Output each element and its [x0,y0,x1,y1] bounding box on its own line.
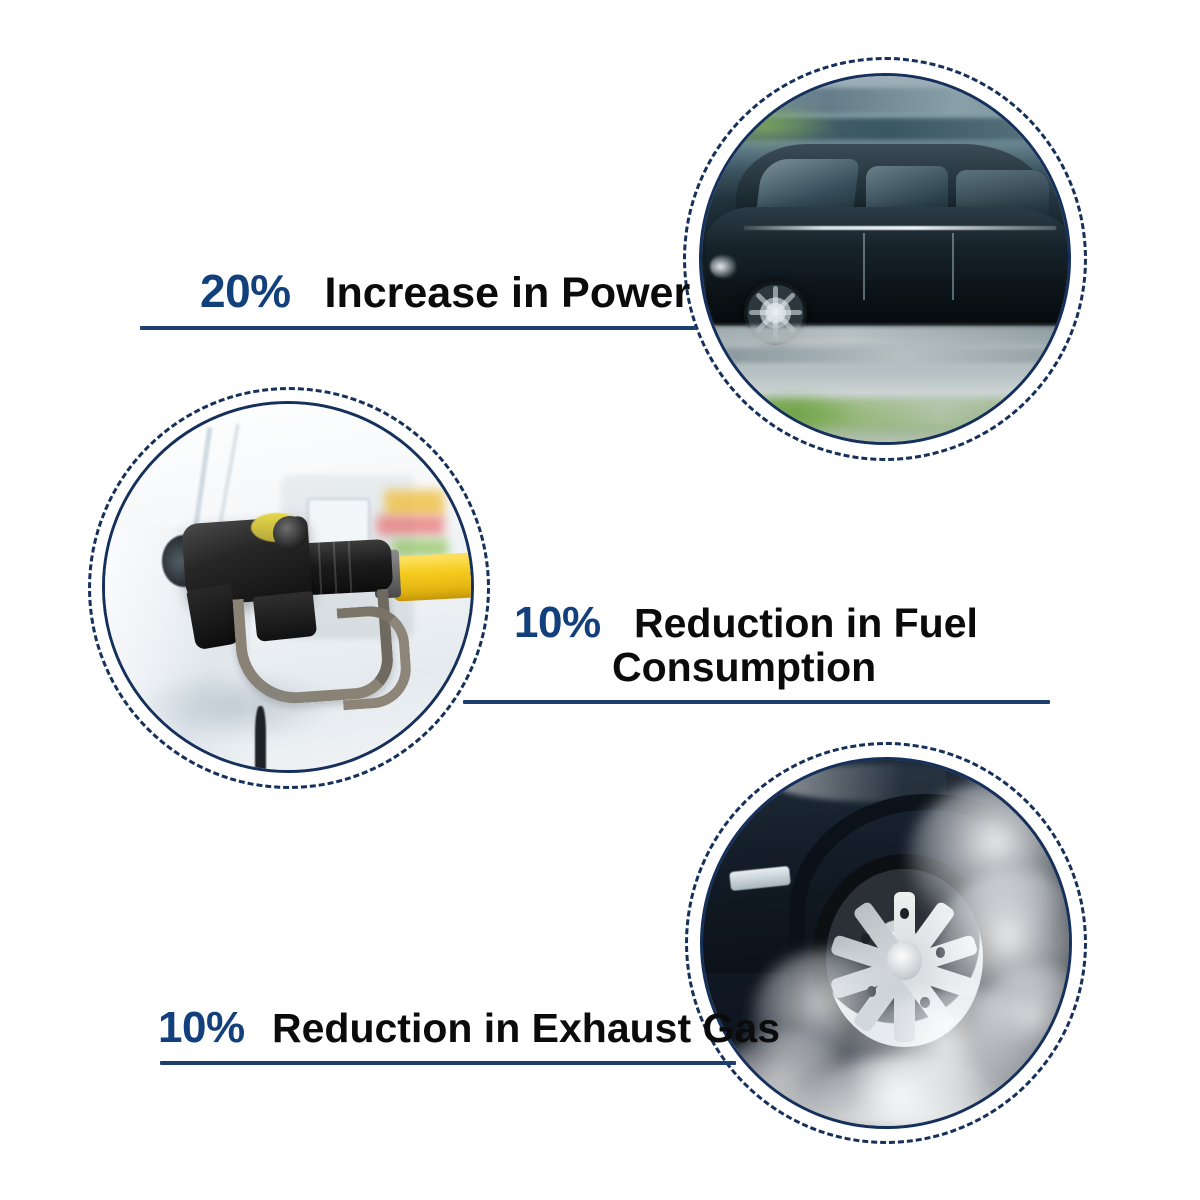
photo-panel-power [683,57,1087,461]
stat-fuel-percent: 10% [514,598,601,647]
infographic-canvas: 20% Increase in Power 10% Reduction in F… [0,0,1200,1200]
underline-power [140,326,696,330]
photo-panel-exhaust [685,742,1087,1144]
stat-power: 20% Increase in Power [200,268,690,316]
stat-exhaust: 10% Reduction in Exhaust Gas [158,1005,780,1051]
underline-exhaust [160,1061,736,1065]
photo-panel-fuel [88,387,490,789]
stat-exhaust-percent: 10% [158,1003,245,1052]
speeding-black-car-photo [699,73,1071,445]
stat-fuel-label-line2: Consumption [612,644,876,690]
underline-fuel [463,700,1050,704]
fuel-nozzle-photo [102,401,474,773]
stat-power-label: Increase in Power [325,269,691,317]
stat-exhaust-label: Reduction in Exhaust Gas [272,1005,780,1051]
smoking-wheel-photo [700,757,1072,1129]
stat-fuel: 10% Reduction in Fuel Consumption [514,600,978,688]
stat-fuel-label: Reduction in Fuel [634,600,978,646]
stat-power-percent: 20% [200,265,291,317]
